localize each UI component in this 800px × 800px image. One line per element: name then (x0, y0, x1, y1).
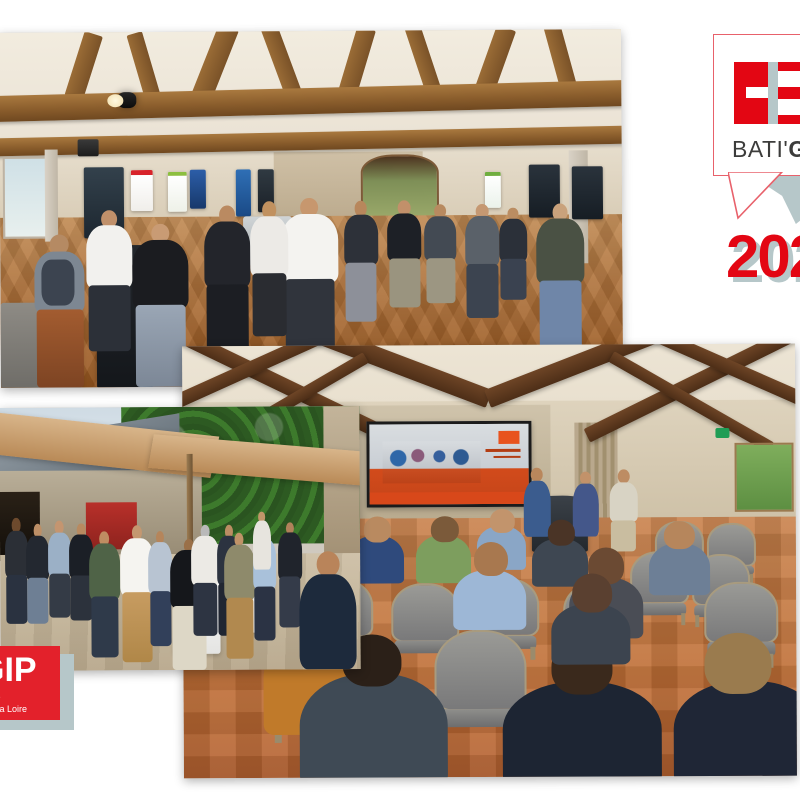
guest (88, 531, 121, 657)
foreground-guest (299, 551, 357, 670)
expo-hall-scene (0, 29, 623, 388)
speaker (572, 472, 599, 537)
exhibitor-banner (168, 172, 187, 212)
speaker-with-microphone (523, 468, 551, 537)
gip-acronym: GIP (0, 651, 37, 690)
conference-window (734, 443, 793, 512)
foreground-attendee-head (704, 633, 772, 694)
cocktail-scene (0, 406, 361, 671)
speech-bubble-tail-icon (728, 172, 798, 222)
attendee (84, 210, 135, 352)
seated-attendee-head (474, 541, 508, 576)
gip-region-line-2: s de la Loire (0, 704, 27, 714)
gip-region-line-1: tagne (0, 692, 1, 702)
seated-attendee-body (551, 604, 631, 665)
walking-attendee (609, 470, 639, 552)
bati-year: 202 (726, 222, 800, 291)
seated-attendee-head (489, 509, 515, 533)
presentation-slide (369, 423, 529, 504)
expo-window (3, 157, 48, 239)
seated-attendee-head (572, 573, 612, 612)
projection-screen (366, 420, 532, 507)
bati-wordmark-bold: G (788, 136, 800, 162)
photo-expo-hall (0, 29, 623, 388)
guest (252, 512, 272, 570)
seated-attendee-body (649, 543, 711, 595)
attendee (202, 205, 253, 354)
seated-attendee-head (664, 521, 695, 549)
slide-footer-band (370, 492, 529, 504)
exhibitor-banner (189, 170, 205, 209)
slide-photo (382, 441, 481, 483)
seated-attendee-body (453, 569, 527, 630)
timber-canopy-edge (323, 406, 360, 569)
photo-outdoor-cocktail (0, 406, 361, 671)
slide-logo (498, 431, 519, 444)
collage-canvas: BATI'G 202 GIP tagne s de la Loire (0, 0, 800, 800)
attendee (31, 235, 88, 388)
gip-logo-box: GIP tagne s de la Loire (0, 646, 60, 720)
foreground-attendee-body (674, 681, 797, 779)
emergency-exit-sign (716, 428, 730, 438)
slide-text-line (494, 455, 521, 457)
exhibitor-banner (485, 172, 501, 208)
gip-partner-logo: GIP tagne s de la Loire (0, 646, 74, 728)
slide-text-line (486, 449, 521, 452)
attendee (535, 203, 586, 352)
seated-attendee-head (364, 516, 392, 542)
foreground-attendee-body (300, 673, 448, 778)
attendee (342, 201, 380, 322)
exhibitor-banner (130, 170, 153, 211)
seated-attendee-head (431, 516, 459, 542)
attendee (498, 207, 530, 299)
attendee (386, 201, 424, 308)
seated-attendee-body (416, 535, 471, 583)
bati-wordmark: BATI'G (732, 136, 800, 163)
bati-monogram-icon (734, 62, 800, 124)
attendee (249, 202, 290, 337)
bati-wordmark-light: BATI (732, 136, 783, 162)
expo-curtain (44, 150, 58, 242)
attendee (423, 204, 458, 304)
bati-event-logo: BATI'G 202 (706, 24, 800, 289)
foreground-attendee-body (502, 681, 662, 778)
attendee (463, 204, 501, 318)
pa-speaker (77, 139, 98, 157)
seated-attendee-head (548, 520, 576, 546)
